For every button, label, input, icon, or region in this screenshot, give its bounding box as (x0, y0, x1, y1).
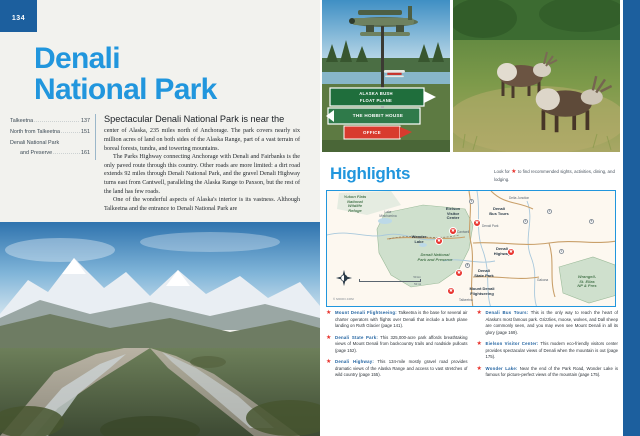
map-scale-bottom-label: 50 mi (359, 282, 421, 286)
toc-item-label: Talkeetna (10, 116, 33, 127)
highlight-item-name: Eielson Visitor Center: (486, 341, 539, 346)
map-shield-highway-4: 4 (547, 209, 552, 214)
map-label-cantwell: Cantwell (457, 231, 469, 235)
map-shield-highway-1: 1 (559, 249, 564, 254)
map-credit: © MOON.COM (333, 297, 354, 301)
toc-divider-rule (95, 114, 96, 160)
star-icon: ★ (511, 169, 516, 175)
toc-item-page: 151 (81, 127, 90, 138)
map-star-mount-denali-flightseeing[interactable]: ★ (447, 287, 455, 295)
toc-leader-dots: .......................... (53, 149, 80, 159)
star-icon: ★ (326, 310, 331, 316)
map-label-talkeetna: Talkeetna (459, 299, 473, 303)
highlight-item[interactable]: ★ Mount Denali Flightseeing: Talkeetna i… (326, 310, 468, 330)
table-of-contents: Talkeetna ..............................… (10, 116, 90, 159)
map-label-delta-junction: Delta Junction (509, 197, 529, 201)
highlights-column-right: ★ Denali Bus Tours: This is the only way… (477, 310, 619, 384)
map-label-denali-park: Denali Park (482, 225, 498, 229)
highlight-item-name: Wonder Lake: (486, 366, 518, 371)
compass-rose-icon (335, 269, 353, 287)
map-label-wonder-lake: WonderLake (403, 235, 435, 244)
map-label-wrangell-st-elias: Wrangell-St. EliasNP & Pres (565, 275, 609, 289)
map-shield-highway-2: 2 (523, 219, 528, 224)
photo-float-plane-signs: ALASKA BUSH FLOAT PLANE THE HOBBIT HOUSE… (322, 0, 450, 152)
star-icon: ★ (477, 341, 482, 347)
right-page: ALASKA BUSH FLOAT PLANE THE HOBBIT HOUSE… (320, 0, 640, 436)
toc-item-label: Denali National Park (10, 138, 59, 149)
map-star-wonder-lake[interactable]: ★ (435, 237, 443, 245)
toc-item[interactable]: Denali National Park (10, 138, 90, 149)
toc-leader-dots: .............................. (34, 117, 80, 127)
highlight-item-name: Denali Bus Tours: (486, 310, 529, 315)
intro-paragraph: The Parks Highway connecting Anchorage w… (104, 153, 300, 196)
map-shield-highway-8: 8 (465, 263, 470, 268)
map-label-denali-park-preserve: Denali NationalPark and Preserve (407, 253, 463, 262)
map-label-eielson-visitor-center: EielsonVisitorCenter (433, 207, 473, 221)
highlights-legend-note: Look for ★ to find recommended sights, a… (494, 168, 616, 184)
map-star-eielson-visitor-center[interactable]: ★ (449, 227, 457, 235)
intro-paragraph: One of the wonderful aspects of Alaska's… (104, 196, 300, 213)
highlights-map[interactable]: Yukon FlatsNationalWildlifeRefuge LakeMi… (326, 190, 616, 307)
photo-sign-hobbit-house: THE HOBBIT HOUSE (336, 110, 420, 121)
intro-paragraph: center of Alaska, 235 miles north of Anc… (104, 127, 300, 153)
landscape-illustration (0, 222, 320, 436)
toc-item-label: North from Talkeetna (10, 127, 60, 138)
photo-caribou (453, 0, 620, 152)
map-label-denali-bus-tours: DenaliBus Tours (479, 207, 519, 216)
caribou-illustration (453, 0, 620, 152)
highlights-list: ★ Mount Denali Flightseeing: Talkeetna i… (326, 310, 618, 384)
highlight-item[interactable]: ★ Wonder Lake: Near the end of the Park … (477, 366, 619, 379)
page-edge-bar (623, 0, 640, 436)
page-number-tab: 134 (0, 0, 37, 32)
toc-item-page: 161 (81, 148, 90, 159)
highlight-item[interactable]: ★ Denali Highway: This 134-mile mostly g… (326, 359, 468, 379)
map-star-denali-state-park[interactable]: ★ (455, 269, 463, 277)
legend-note-prefix: Look for (494, 169, 510, 174)
highlights-column-left: ★ Mount Denali Flightseeing: Talkeetna i… (326, 310, 468, 384)
map-label-lake-minchumina: LakeMinchumina (371, 211, 405, 219)
highlights-section: Highlights Look for ★ to find recommende… (322, 160, 620, 436)
legend-note-mid: to find recommended (518, 169, 559, 174)
star-icon: ★ (326, 335, 331, 341)
photo-denali-landscape (0, 222, 320, 436)
toc-item[interactable]: North from Talkeetna ...................… (10, 127, 90, 138)
highlight-item-name: Denali State Park: (335, 335, 378, 340)
highlight-item-name: Denali Highway: (335, 359, 374, 364)
page-title: Denali National Park (34, 44, 304, 106)
highlight-item[interactable]: ★ Eielson Visitor Center: This modern ec… (477, 341, 619, 361)
star-icon: ★ (326, 359, 331, 365)
toc-leader-dots: .............................. (61, 128, 80, 138)
map-shield-highway-5: 5 (589, 219, 594, 224)
toc-item[interactable]: and Preserve .......................... … (10, 148, 90, 159)
chapter-title-line-1: Denali (34, 44, 304, 75)
map-label-gakona: Gakona (537, 279, 548, 283)
star-icon: ★ (477, 310, 482, 316)
chapter-title-line-2: National Park (34, 75, 304, 106)
map-star-denali-highway[interactable]: ★ (507, 248, 515, 256)
photo-sign-office: OFFICE (346, 128, 398, 137)
photo-sign-alaska-bush-line2: FLOAT PLANE (331, 97, 421, 104)
map-label-denali-state-park: DenaliState Park (465, 269, 503, 278)
highlight-item[interactable]: ★ Denali State Park: This 325,000-acre p… (326, 335, 468, 355)
map-label-mount-denali-flightseeing: Mount DenaliFlightseeing (459, 287, 505, 296)
highlights-title: Highlights (330, 164, 410, 184)
intro-body-column: Spectacular Denali National Park is near… (104, 114, 300, 214)
toc-item-label: and Preserve (20, 148, 52, 159)
toc-item[interactable]: Talkeetna ..............................… (10, 116, 90, 127)
star-icon: ★ (477, 366, 482, 372)
highlight-item[interactable]: ★ Denali Bus Tours: This is the only way… (477, 310, 619, 336)
map-shield-highway-3: 3 (469, 199, 474, 204)
highlight-item-name: Mount Denali Flightseeing: (335, 310, 397, 315)
map-label-refuge: Yukon FlatsNationalWildlifeRefuge (335, 195, 375, 214)
page-number: 134 (12, 15, 25, 22)
left-page: 134 Denali National Park Talkeetna .....… (0, 0, 320, 436)
photo-sign-alaska-bush-line1: ALASKA BUSH (331, 90, 421, 97)
map-scale-bar: 50 km 50 mi (359, 275, 421, 286)
intro-lede: Spectacular Denali National Park is near… (104, 114, 300, 125)
map-star-denali-bus-tours[interactable]: ★ (473, 219, 481, 227)
toc-item-page: 137 (81, 116, 90, 127)
